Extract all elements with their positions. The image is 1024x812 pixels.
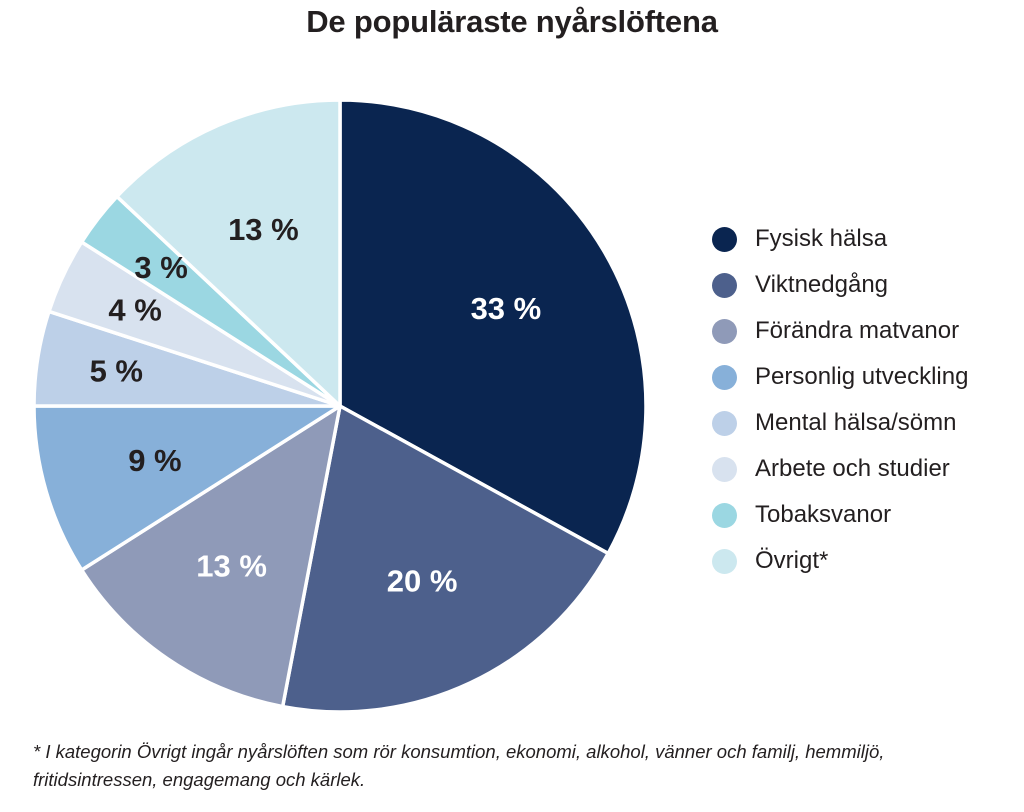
- pie-slice-label: 3 %: [134, 250, 187, 285]
- legend-item-label: Mental hälsa/sömn: [755, 409, 956, 437]
- legend-item: Personlig utveckling: [712, 354, 1012, 400]
- legend-swatch-icon: [712, 549, 737, 574]
- pie-slice-label: 33 %: [471, 291, 542, 326]
- pie-slice-label: 13 %: [228, 212, 299, 247]
- legend-item-label: Personlig utveckling: [755, 363, 968, 391]
- pie-slice-label: 5 %: [90, 354, 143, 389]
- legend-swatch-icon: [712, 227, 737, 252]
- legend-item-label: Förändra matvanor: [755, 317, 959, 345]
- legend-item: Fysisk hälsa: [712, 216, 1012, 262]
- legend-swatch-icon: [712, 503, 737, 528]
- chart-page: De populäraste nyårslöftena 33 %20 %13 %…: [0, 0, 1024, 812]
- legend-item-label: Fysisk hälsa: [755, 225, 887, 253]
- legend-item-label: Viktnedgång: [755, 271, 888, 299]
- legend-swatch-icon: [712, 411, 737, 436]
- footnote: * I kategorin Övrigt ingår nyårslöften s…: [33, 738, 1008, 794]
- pie-slice-label: 9 %: [128, 443, 181, 478]
- legend-item-label: Tobaksvanor: [755, 501, 891, 529]
- legend-swatch-icon: [712, 273, 737, 298]
- legend-swatch-icon: [712, 457, 737, 482]
- legend-item: Viktnedgång: [712, 262, 1012, 308]
- legend: Fysisk hälsaViktnedgångFörändra matvanor…: [712, 216, 1012, 584]
- legend-swatch-icon: [712, 319, 737, 344]
- pie-chart: 33 %20 %13 %9 %5 %4 %3 %13 %: [0, 0, 700, 740]
- pie-slice-label: 4 %: [108, 293, 161, 328]
- legend-item: Förändra matvanor: [712, 308, 1012, 354]
- legend-item-label: Övrigt*: [755, 547, 828, 575]
- pie-chart-svg: 33 %20 %13 %9 %5 %4 %3 %13 %: [0, 0, 700, 740]
- pie-slice-label: 13 %: [196, 548, 267, 583]
- legend-item: Mental hälsa/sömn: [712, 400, 1012, 446]
- pie-slice-label: 20 %: [387, 563, 458, 598]
- legend-item: Tobaksvanor: [712, 492, 1012, 538]
- legend-swatch-icon: [712, 365, 737, 390]
- legend-item: Arbete och studier: [712, 446, 1012, 492]
- legend-item: Övrigt*: [712, 538, 1012, 584]
- legend-item-label: Arbete och studier: [755, 455, 950, 483]
